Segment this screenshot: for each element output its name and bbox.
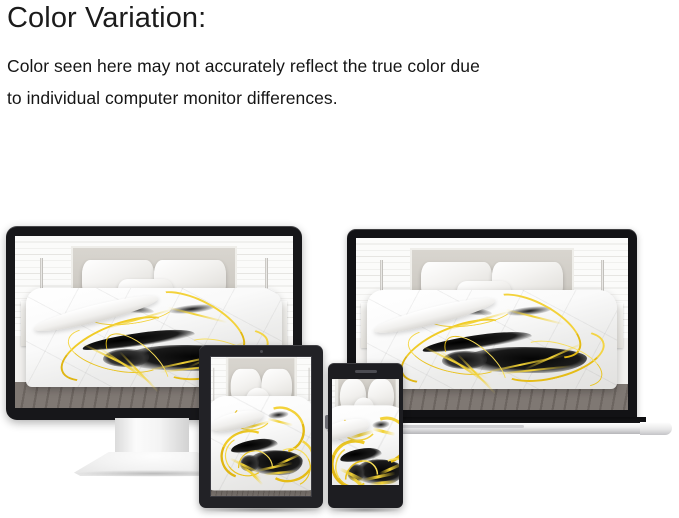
disclaimer-line-1: Color seen here may not accurately refle… xyxy=(7,50,667,82)
laptop-foot xyxy=(640,422,672,435)
smartphone xyxy=(328,363,403,508)
camera-icon xyxy=(260,350,263,353)
phone-screen xyxy=(332,379,399,485)
speaker-grille-icon xyxy=(355,370,377,373)
comforter xyxy=(211,396,311,491)
page-title: Color Variation: xyxy=(7,1,206,35)
comforter xyxy=(367,290,617,390)
bedding-artwork xyxy=(332,379,399,485)
disclaimer-paragraph: Color seen here may not accurately refle… xyxy=(7,50,667,114)
side-button[interactable] xyxy=(325,415,328,429)
tablet-shadow xyxy=(203,507,319,513)
comforter xyxy=(332,405,399,485)
tablet xyxy=(199,345,323,508)
disclaimer-line-2: to individual computer monitor differenc… xyxy=(7,82,667,114)
bedding-artwork xyxy=(211,357,311,496)
phone-shadow xyxy=(331,507,399,513)
tablet-screen xyxy=(211,357,311,496)
